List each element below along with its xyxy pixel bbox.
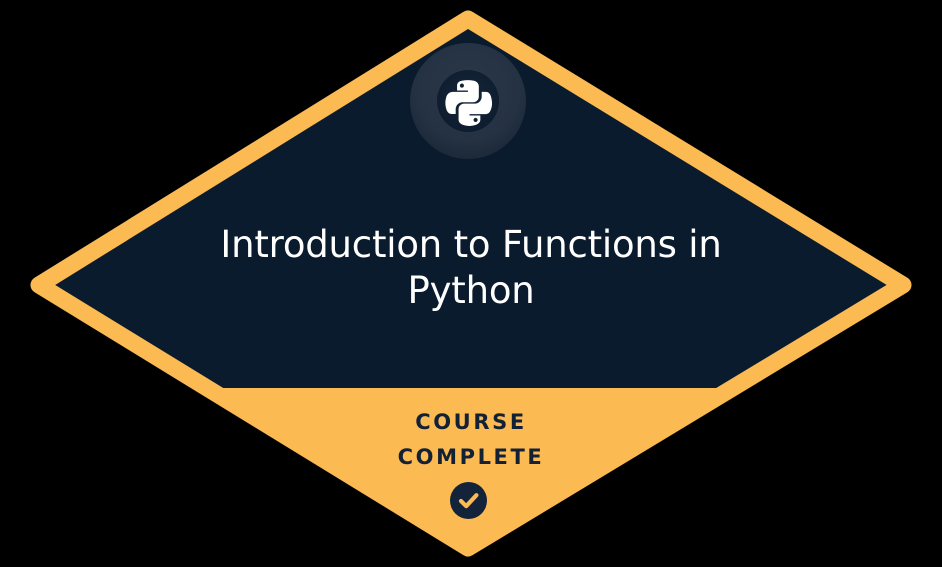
badge-canvas: Introduction to Functions in Python COUR…: [0, 0, 942, 567]
diamond-navy-panel: [0, 0, 942, 388]
badge-diamond-artwork: [0, 0, 942, 567]
